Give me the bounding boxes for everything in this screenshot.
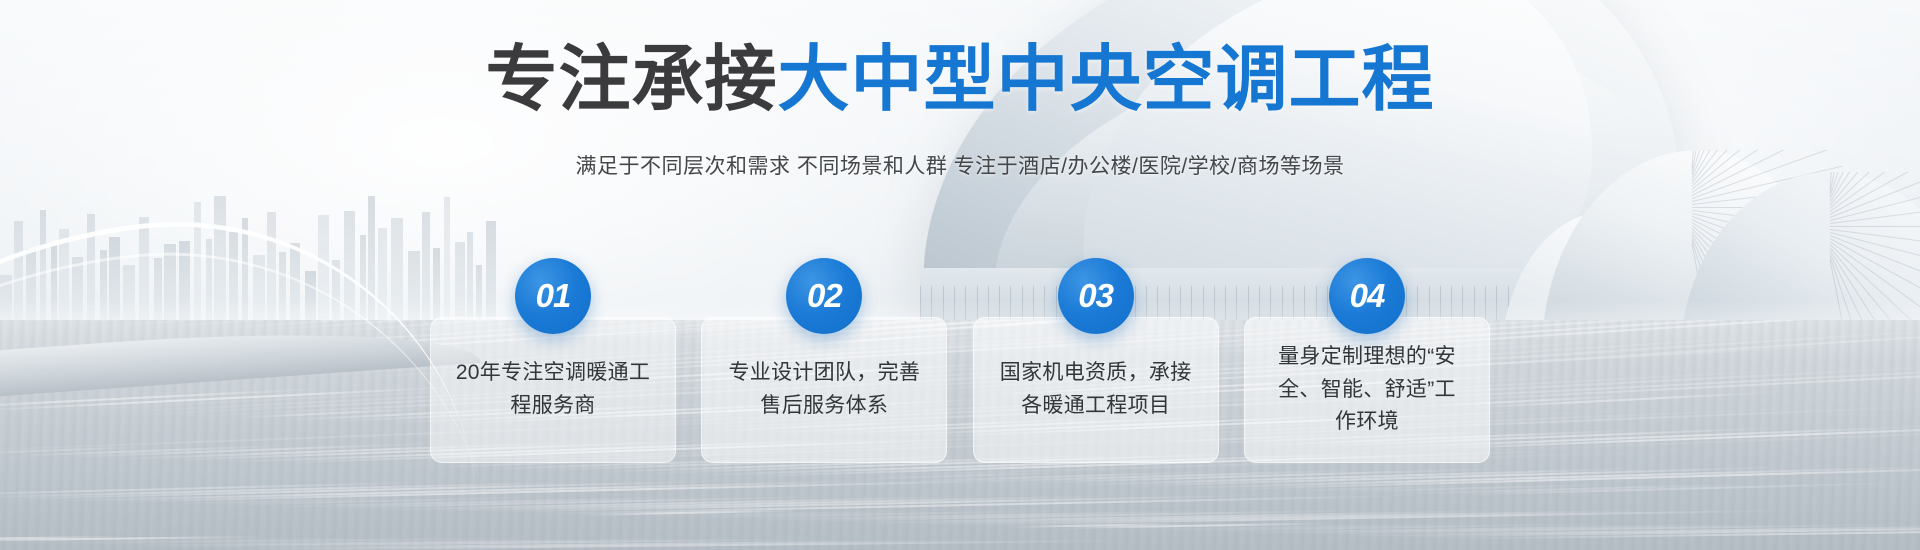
card-body: 量身定制理想的“安 全、智能、舒适”工 作环境 xyxy=(1244,317,1490,463)
hero-banner: 专注承接大中型中央空调工程 满足于不同层次和需求 不同场景和人群 专注于酒店/办… xyxy=(0,0,1920,550)
card-body: 专业设计团队，完善 售后服务体系 xyxy=(701,317,947,463)
card-number-badge: 02 xyxy=(786,258,862,334)
feature-card-list: 01 20年专注空调暖通工 程服务商 02 专业设计团队，完善 售后服务体系 0… xyxy=(430,258,1490,463)
card-number-badge: 04 xyxy=(1329,258,1405,334)
card-text: 国家机电资质，承接 各暖通工程项目 xyxy=(1000,357,1192,422)
subtitle: 满足于不同层次和需求 不同场景和人群 专注于酒店/办公楼/医院/学校/商场等场景 xyxy=(0,152,1920,181)
banner-content: 专注承接大中型中央空调工程 满足于不同层次和需求 不同场景和人群 专注于酒店/办… xyxy=(0,0,1920,550)
feature-card[interactable]: 03 国家机电资质，承接 各暖通工程项目 xyxy=(973,258,1219,463)
headline-dark-text: 专注承接 xyxy=(485,40,777,120)
card-number-label: 02 xyxy=(807,277,842,315)
card-text: 20年专注空调暖通工 程服务商 xyxy=(456,357,650,422)
feature-card[interactable]: 02 专业设计团队，完善 售后服务体系 xyxy=(701,258,947,463)
headline-blue-text: 大中型中央空调工程 xyxy=(778,40,1435,120)
card-number-badge: 03 xyxy=(1058,258,1134,334)
card-number-badge: 01 xyxy=(515,258,591,334)
card-body: 国家机电资质，承接 各暖通工程项目 xyxy=(973,317,1219,463)
feature-card[interactable]: 04 量身定制理想的“安 全、智能、舒适”工 作环境 xyxy=(1244,258,1490,463)
card-number-label: 03 xyxy=(1078,277,1113,315)
card-text: 量身定制理想的“安 全、智能、舒适”工 作环境 xyxy=(1278,341,1456,439)
card-number-label: 04 xyxy=(1350,277,1385,315)
card-text: 专业设计团队，完善 售后服务体系 xyxy=(728,357,920,422)
card-number-label: 01 xyxy=(536,277,571,315)
headline: 专注承接大中型中央空调工程 xyxy=(0,44,1920,116)
feature-card[interactable]: 01 20年专注空调暖通工 程服务商 xyxy=(430,258,676,463)
card-body: 20年专注空调暖通工 程服务商 xyxy=(430,317,676,463)
